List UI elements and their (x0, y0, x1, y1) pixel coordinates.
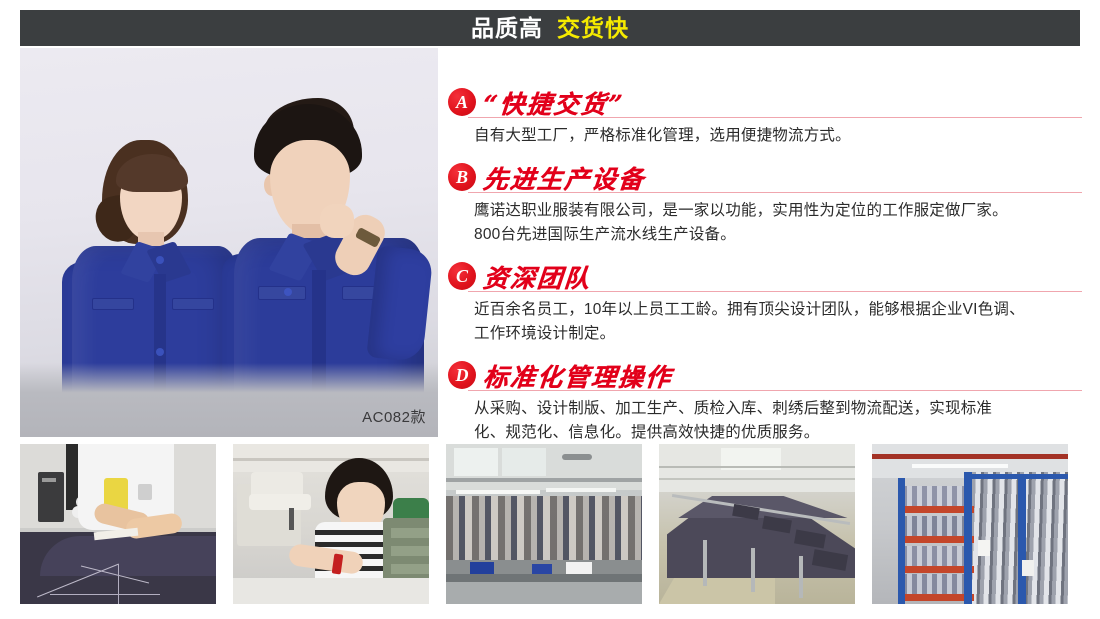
t3-window-2 (502, 448, 546, 476)
t4-support-leg-1 (703, 540, 707, 586)
t3-lamp-2 (546, 488, 616, 492)
feature-badge-a: A (448, 88, 476, 116)
t5-rack-post-2 (964, 472, 972, 604)
thumbnail-sewing-operator[interactable] (233, 444, 429, 604)
t5-red-beam (872, 454, 1068, 459)
t5-stock-row-3 (902, 546, 972, 566)
feature-item-d: D 标准化管理操作 从采购、设计制版、加工生产、质检入库、刺绣后整到物流配送，实… (448, 355, 1082, 445)
t5-lamp (912, 464, 1008, 468)
feature-item-c: C 资深团队 近百余名员工，10年以上员工工龄。拥有顶尖设计团队，能够根据企业V… (448, 256, 1082, 346)
feature-item-b: B 先进生产设备 鹰诺达职业服装有限公司，是一家以功能，实用性为定位的工作服定做… (448, 157, 1082, 247)
t2-garment-fold-2 (391, 546, 429, 556)
feature-divider-d (468, 390, 1082, 391)
thumbnail-conveyor-line[interactable] (659, 444, 855, 604)
feature-title-d: 标准化管理操作 (482, 365, 673, 391)
t1-chalk-line-3 (50, 594, 160, 595)
t2-garment-fold-1 (391, 528, 429, 538)
t5-stock-row-1 (902, 486, 972, 506)
t5-rack-post-3 (1018, 474, 1026, 604)
t3-bench-shadow (446, 574, 642, 582)
model-female-pocket-right (172, 298, 214, 310)
header-banner: 品质高 交货快 (20, 10, 1080, 46)
model-male-hand (320, 204, 354, 238)
t5-stock-row-4 (902, 574, 972, 594)
t3-lamp-1 (456, 490, 540, 494)
model-male-pocket-left (258, 286, 306, 300)
feature-c-line-1: 近百余名员工，10年以上员工工龄。拥有顶尖设计团队，能够根据企业VI色调、 (474, 298, 1082, 322)
model-female-button-mid (156, 348, 164, 356)
header-title-primary: 品质高 (471, 17, 543, 40)
t3-overhead-beam (446, 478, 642, 482)
feature-d-line-2: 化、规范化、信息化。提供高效快捷的优质服务。 (474, 421, 1082, 445)
t4-support-leg-3 (799, 556, 803, 598)
feature-body-b: 鹰诺达职业服装有限公司，是一家以功能，实用性为定位的工作服定做厂家。 800台先… (474, 199, 1082, 247)
product-code-label: AC082款 (362, 406, 426, 427)
t4-truss-2 (659, 478, 855, 480)
thumbnail-sewing-floor[interactable] (446, 444, 642, 604)
t1-computer-panel (42, 478, 56, 482)
feature-b-line-1: 鹰诺达职业服装有限公司，是一家以功能，实用性为定位的工作服定做厂家。 (474, 199, 1082, 223)
feature-title-c: 资深团队 (482, 266, 592, 292)
t3-window-1 (454, 448, 498, 476)
thumbnail-pattern-cutting[interactable] (20, 444, 216, 604)
t5-rack-post-1 (898, 478, 905, 604)
feature-list: A “快捷交货” 自有大型工厂，严格标准化管理，选用便捷物流方式。 B 先进生产… (448, 82, 1082, 434)
feature-d-line-1: 从采购、设计制版、加工生产、质检入库、刺绣后整到物流配送，实现标准 (474, 397, 1082, 421)
t4-truss-1 (659, 466, 855, 468)
t5-label-tag-1 (978, 540, 990, 556)
feature-divider-a (468, 117, 1082, 118)
promo-page: 品质高 交货快 (0, 0, 1100, 619)
feature-badge-d: D (448, 361, 476, 389)
t2-work-table (233, 578, 429, 604)
thumbnail-warehouse[interactable] (872, 444, 1068, 604)
header-title-accent: 交货快 (557, 17, 629, 40)
t5-shelf-3 (898, 566, 974, 573)
model-female-pocket-left (92, 298, 134, 310)
feature-body-d: 从采购、设计制版、加工生产、质检入库、刺绣后整到物流配送，实现标准 化、规范化、… (474, 397, 1082, 445)
t3-floor (446, 582, 642, 604)
feature-c-head: C 资深团队 (448, 256, 1082, 292)
feature-title-a: “快捷交货” (482, 92, 625, 118)
t3-worker-rows (446, 496, 642, 562)
t5-shelf-2 (898, 536, 974, 543)
t5-label-tag-2 (1022, 560, 1034, 576)
feature-divider-c (468, 291, 1082, 292)
feature-c-line-2: 工作环境设计制定。 (474, 322, 1082, 346)
hero-product-photo: AC082款 (20, 48, 438, 437)
t4-support-leg-2 (751, 548, 755, 592)
model-male-pocket-button (284, 288, 292, 296)
t1-fabric-fold (40, 536, 216, 576)
factory-photo-strip (20, 444, 1080, 604)
feature-a-line-1: 自有大型工厂，严格标准化管理，选用便捷物流方式。 (474, 124, 1082, 148)
t2-sewing-machine-arm (249, 494, 311, 510)
feature-body-c: 近百余名员工，10年以上员工工龄。拥有顶尖设计团队，能够根据企业VI色调、 工作… (474, 298, 1082, 346)
feature-badge-c: C (448, 262, 476, 290)
feature-badge-b: B (448, 163, 476, 191)
feature-body-a: 自有大型工厂，严格标准化管理，选用便捷物流方式。 (474, 124, 1082, 148)
t5-shelf-4 (898, 594, 974, 601)
feature-divider-b (468, 192, 1082, 193)
t2-sewing-needle (289, 508, 294, 530)
feature-b-line-2: 800台先进国际生产流水线生产设备。 (474, 223, 1082, 247)
feature-title-b: 先进生产设备 (482, 167, 646, 193)
model-female-button-top (156, 256, 164, 264)
t3-ceiling-fan (562, 454, 592, 460)
t5-stock-row-2 (902, 516, 972, 536)
t5-shelf-1 (898, 506, 974, 513)
t2-garment-fold-3 (391, 564, 429, 574)
feature-item-a: A “快捷交货” 自有大型工厂，严格标准化管理，选用便捷物流方式。 (448, 82, 1082, 148)
feature-b-head: B 先进生产设备 (448, 157, 1082, 193)
t1-chalk-line-4 (118, 564, 119, 604)
t1-shirt-logo (138, 484, 152, 500)
feature-d-head: D 标准化管理操作 (448, 355, 1082, 391)
feature-a-head: A “快捷交货” (448, 82, 1082, 118)
t2-ceiling-beam (233, 458, 429, 461)
